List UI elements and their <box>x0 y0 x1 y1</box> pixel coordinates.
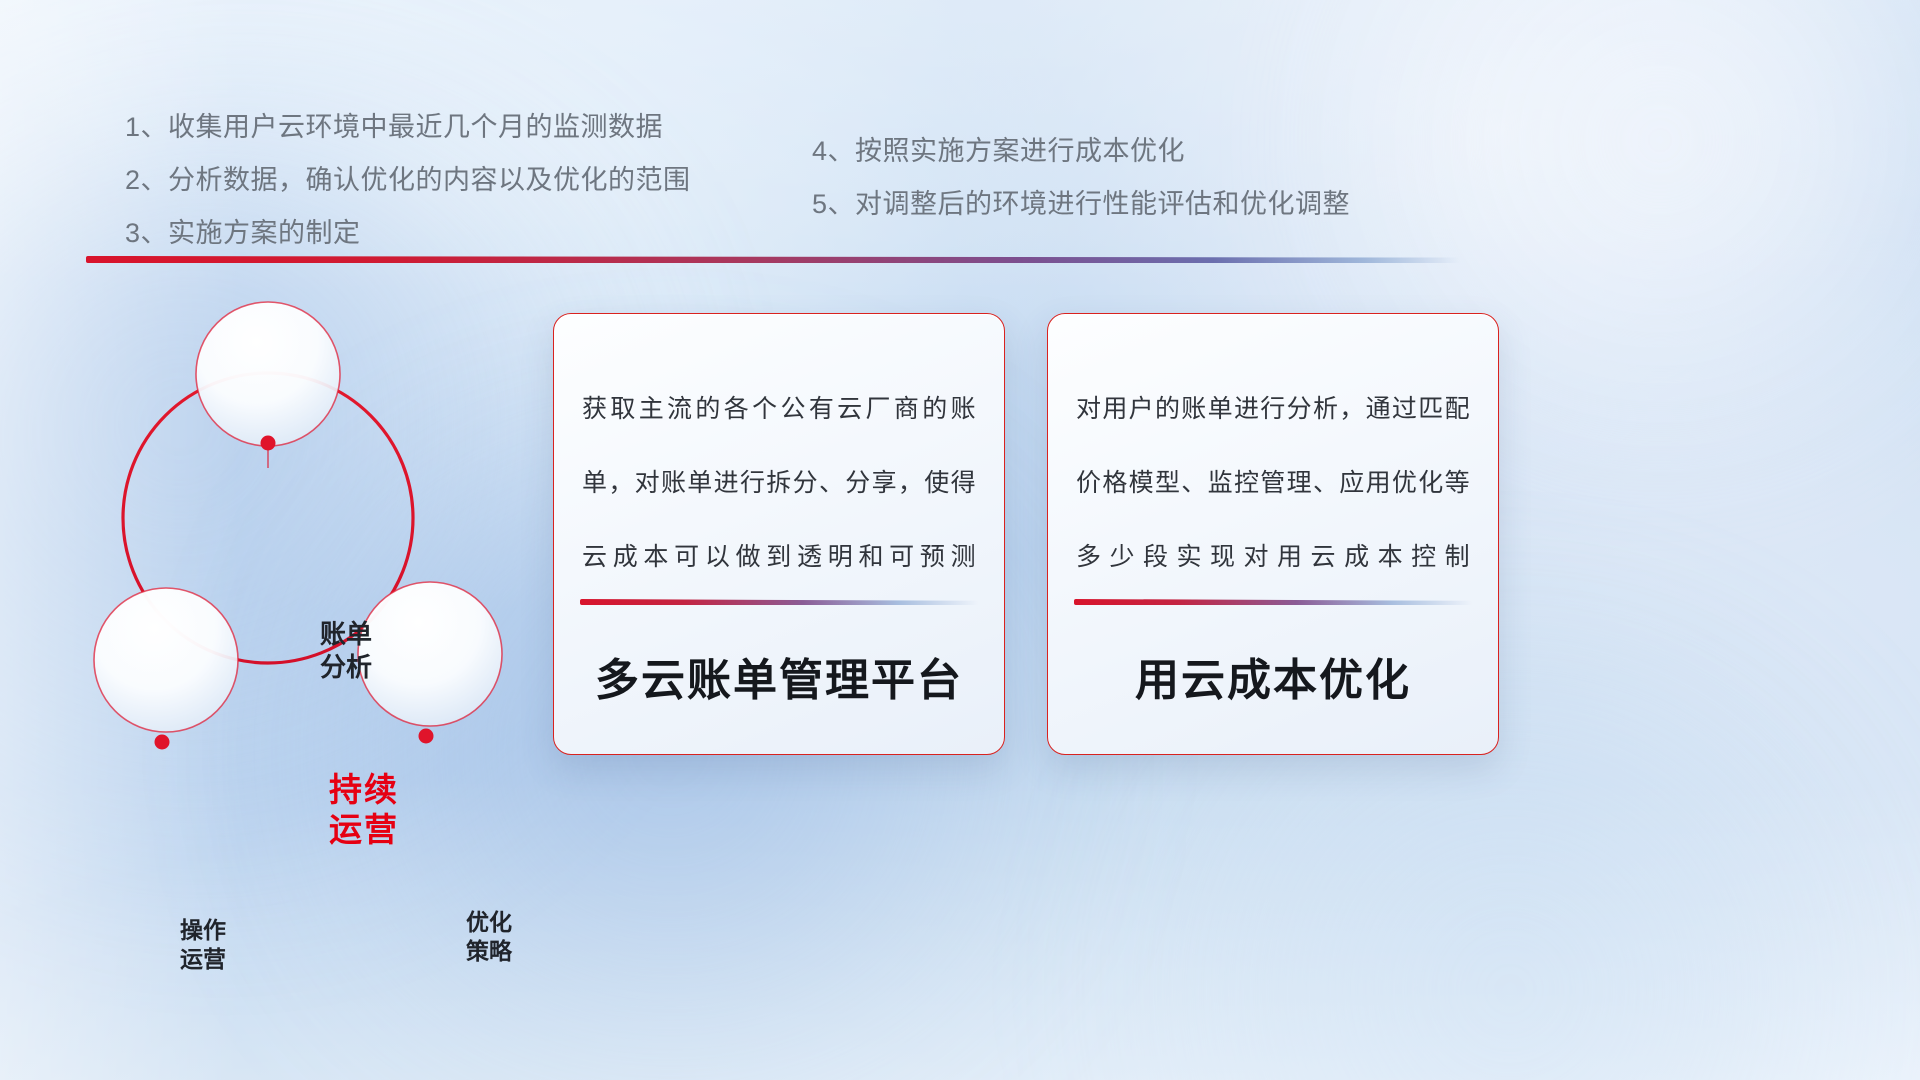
card-title: 用云成本优化 <box>1048 644 1498 708</box>
venn-label-optimization-strategy: 优化 策略 <box>414 908 564 966</box>
process-step-4: 4、按照实施方案进行成本优化 <box>812 125 1350 178</box>
venn-label-operation: 操作 运营 <box>128 916 278 974</box>
process-step-2: 2、分析数据，确认优化的内容以及优化的范围 <box>125 154 691 207</box>
card-title: 多云账单管理平台 <box>554 644 1004 708</box>
process-step-1: 1、收集用户云环境中最近几个月的监测数据 <box>125 101 691 154</box>
card-body-text: 获取主流的各个公有云厂商的账单，对账单进行拆分、分享，使得云成本可以做到透明和可… <box>582 372 976 594</box>
venn-circle-operation <box>94 588 238 732</box>
venn-label-billing-analysis: 账单 分析 <box>266 618 426 684</box>
process-step-3: 3、实施方案的制定 <box>125 207 691 260</box>
venn-node-dot-bottom-left <box>155 735 170 750</box>
venn-node-dot-bottom-right <box>419 729 434 744</box>
process-steps-left: 1、收集用户云环境中最近几个月的监测数据 2、分析数据，确认优化的内容以及优化的… <box>125 101 691 260</box>
divider-bar <box>86 256 1460 263</box>
venn-circle-billing-analysis <box>196 302 340 446</box>
process-step-5: 5、对调整后的环境进行性能评估和优化调整 <box>812 178 1350 231</box>
venn-node-dot-top <box>261 436 276 451</box>
process-steps-right: 4、按照实施方案进行成本优化 5、对调整后的环境进行性能评估和优化调整 <box>812 125 1350 231</box>
card-accent-rule <box>580 599 978 605</box>
continuous-operation-venn-diagram: 账单 分析 操作 运营 优化 策略 持续 运营 <box>78 286 548 772</box>
card-accent-rule <box>1074 599 1472 605</box>
card-multi-cloud-billing-platform[interactable]: 获取主流的各个公有云厂商的账单，对账单进行拆分、分享，使得云成本可以做到透明和可… <box>553 313 1005 755</box>
card-cloud-cost-optimization[interactable]: 对用户的账单进行分析，通过匹配价格模型、监控管理、应用优化等多少段实现对用云成本… <box>1047 313 1499 755</box>
card-body-text: 对用户的账单进行分析，通过匹配价格模型、监控管理、应用优化等多少段实现对用云成本… <box>1076 372 1470 594</box>
venn-label-center-continuous-operation: 持续 运营 <box>274 770 454 851</box>
section-divider <box>86 256 1460 263</box>
